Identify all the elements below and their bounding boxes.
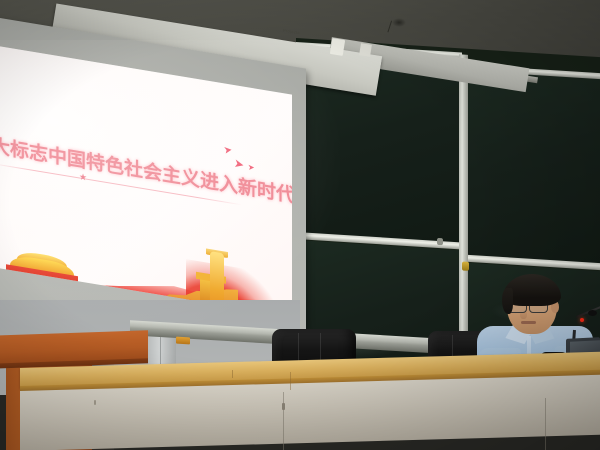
chalkboard-slide-knob[interactable] (462, 261, 469, 270)
slide-title: 九大标志中国特色社会主义进入新时代 (0, 128, 272, 205)
microphone-led-indicator (580, 318, 584, 322)
table-panel-latch (94, 400, 96, 405)
eraser[interactable] (176, 337, 190, 345)
table-panel-seam (545, 398, 546, 450)
table-seam (290, 372, 291, 390)
hair-sideburn (502, 288, 513, 314)
screen-roller-endcap (359, 43, 372, 57)
table-panel-seam (283, 392, 284, 450)
chalkboard-panel (468, 71, 600, 263)
dove-icon: ➤ (223, 146, 234, 157)
table-panel-latch (282, 403, 285, 410)
wooden-podium (0, 330, 148, 364)
star-icon: ★ (79, 172, 87, 183)
microphone-capsule[interactable] (588, 310, 597, 316)
table-seam (232, 370, 233, 378)
chalkboard-slide-knob[interactable] (437, 238, 443, 245)
dove-icon: ➤ (247, 164, 255, 172)
screen-roller-endcap (330, 38, 345, 56)
lecture-hall-photo: Projecta (0, 0, 600, 450)
dove-icon: ➤ (233, 157, 244, 171)
mouth (521, 321, 536, 324)
